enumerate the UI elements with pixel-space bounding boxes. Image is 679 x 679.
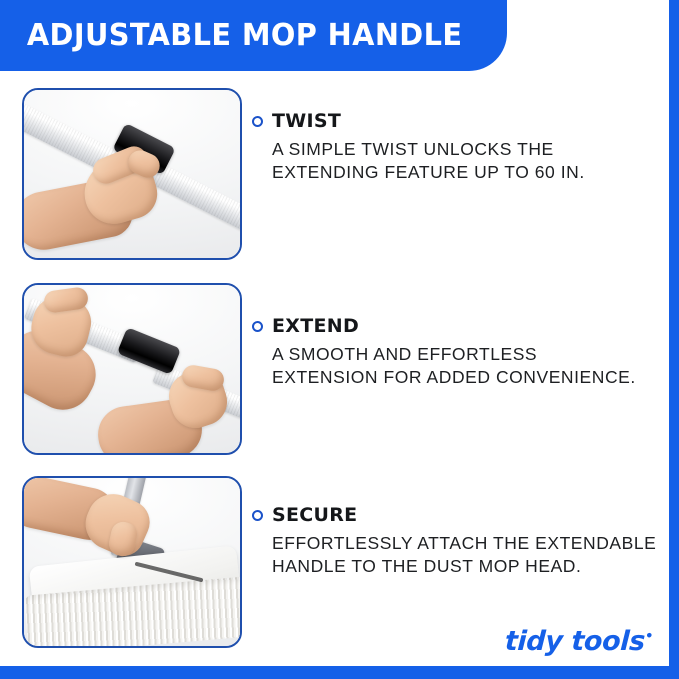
bullet-circle-icon [252, 510, 263, 521]
photo-hand-twisting-handle [24, 90, 240, 258]
feature-body: EFFORTLESSLY ATTACH THE EXTENDABLE HANDL… [272, 532, 667, 579]
brand-logo: tidy tools• [504, 626, 653, 657]
feature-body: A SMOOTH AND EFFORTLESS EXTENSION FOR AD… [272, 343, 667, 390]
feature-heading: TWIST [272, 112, 341, 131]
photo-two-hands-extending [24, 285, 240, 453]
feature-image-card-extend [22, 283, 242, 455]
feature-heading-row: EXTEND [252, 317, 667, 336]
page-title: ADJUSTABLE MOP HANDLE [0, 18, 462, 53]
feature-text-twist: TWIST A SIMPLE TWIST UNLOCKS THE EXTENDI… [252, 112, 667, 185]
feature-text-secure: SECURE EFFORTLESSLY ATTACH THE EXTENDABL… [252, 506, 667, 579]
bullet-circle-icon [252, 321, 263, 332]
feature-heading: SECURE [272, 506, 357, 525]
bullet-circle-icon [252, 116, 263, 127]
bottom-edge-bar [0, 666, 679, 679]
right-edge-bar [669, 0, 679, 672]
feature-heading: EXTEND [272, 317, 359, 336]
feature-heading-row: TWIST [252, 112, 667, 131]
feature-heading-row: SECURE [252, 506, 667, 525]
infographic-page: ADJUSTABLE MOP HANDLE [0, 0, 679, 679]
header-banner: ADJUSTABLE MOP HANDLE [0, 0, 507, 71]
brand-logo-mark: • [645, 629, 654, 644]
photo-attaching-dust-mop-head [24, 478, 240, 646]
brand-logo-text: tidy tools [504, 626, 645, 657]
feature-image-card-twist [22, 88, 242, 260]
feature-body: A SIMPLE TWIST UNLOCKS THE EXTENDING FEA… [272, 138, 667, 185]
feature-text-extend: EXTEND A SMOOTH AND EFFORTLESS EXTENSION… [252, 317, 667, 390]
feature-image-card-secure [22, 476, 242, 648]
